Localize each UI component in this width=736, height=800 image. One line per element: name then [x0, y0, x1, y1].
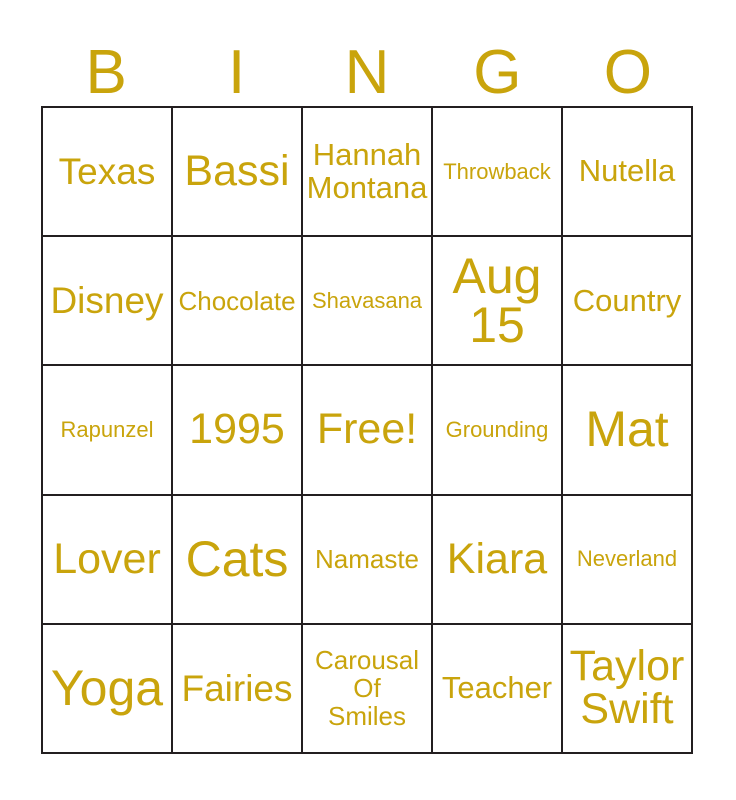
bingo-cell-label: Teacher — [435, 672, 559, 705]
bingo-cell[interactable]: Carousal Of Smiles — [303, 625, 433, 754]
bingo-cell[interactable]: Hannah Montana — [303, 108, 433, 237]
bingo-cell[interactable]: Bassi — [173, 108, 303, 237]
bingo-cell[interactable]: Shavasana — [303, 237, 433, 366]
bingo-cell[interactable]: Disney — [43, 237, 173, 366]
bingo-cell-label: Lover — [45, 538, 169, 581]
bingo-cell-label: Aug 15 — [435, 252, 559, 350]
header-letter-n: N — [302, 40, 432, 106]
bingo-free-cell[interactable]: Free! — [303, 366, 433, 495]
bingo-cell-label: Hannah Montana — [305, 139, 429, 204]
bingo-cell-label: 1995 — [175, 408, 299, 451]
bingo-cell-label: Rapunzel — [45, 418, 169, 442]
bingo-cell-label: Free! — [305, 408, 429, 451]
bingo-cell-label: Yoga — [45, 664, 169, 713]
bingo-cell[interactable]: Kiara — [433, 496, 563, 625]
bingo-cell[interactable]: Taylor Swift — [563, 625, 693, 754]
bingo-cell[interactable]: Country — [563, 237, 693, 366]
bingo-cell-label: Grounding — [435, 418, 559, 442]
bingo-cell-label: Texas — [45, 153, 169, 191]
header-letter-i: I — [171, 40, 301, 106]
bingo-cell-label: Neverland — [565, 547, 689, 571]
bingo-cell[interactable]: 1995 — [173, 366, 303, 495]
bingo-cell-label: Nutella — [565, 155, 689, 188]
bingo-cell[interactable]: Teacher — [433, 625, 563, 754]
bingo-header: B I N G O — [41, 26, 693, 106]
bingo-cell[interactable]: Rapunzel — [43, 366, 173, 495]
bingo-cell-label: Taylor Swift — [565, 645, 689, 731]
bingo-cell-label: Mat — [565, 405, 689, 454]
header-letter-b: B — [41, 40, 171, 106]
bingo-cell[interactable]: Cats — [173, 496, 303, 625]
bingo-cell-label: Disney — [45, 282, 169, 320]
header-letter-g: G — [432, 40, 562, 106]
bingo-cell[interactable]: Aug 15 — [433, 237, 563, 366]
bingo-cell[interactable]: Namaste — [303, 496, 433, 625]
bingo-card: B I N G O TexasBassiHannah MontanaThrowb… — [0, 0, 736, 800]
bingo-cell-label: Cats — [175, 535, 299, 584]
bingo-cell[interactable]: Grounding — [433, 366, 563, 495]
bingo-cell[interactable]: Mat — [563, 366, 693, 495]
bingo-cell[interactable]: Lover — [43, 496, 173, 625]
bingo-cell[interactable]: Texas — [43, 108, 173, 237]
bingo-cell[interactable]: Throwback — [433, 108, 563, 237]
bingo-cell[interactable]: Fairies — [173, 625, 303, 754]
header-letter-o: O — [563, 40, 693, 106]
bingo-grid: TexasBassiHannah MontanaThrowbackNutella… — [41, 106, 693, 754]
bingo-cell-label: Namaste — [305, 545, 429, 573]
bingo-cell[interactable]: Yoga — [43, 625, 173, 754]
bingo-cell-label: Shavasana — [305, 289, 429, 313]
bingo-cell[interactable]: Nutella — [563, 108, 693, 237]
bingo-cell[interactable]: Chocolate — [173, 237, 303, 366]
bingo-cell-label: Throwback — [435, 160, 559, 184]
bingo-cell-label: Carousal Of Smiles — [305, 646, 429, 730]
bingo-cell-label: Chocolate — [175, 287, 299, 315]
bingo-cell[interactable]: Neverland — [563, 496, 693, 625]
bingo-cell-label: Kiara — [435, 538, 559, 581]
bingo-cell-label: Country — [565, 285, 689, 318]
bingo-cell-label: Bassi — [175, 150, 299, 193]
bingo-cell-label: Fairies — [175, 670, 299, 708]
